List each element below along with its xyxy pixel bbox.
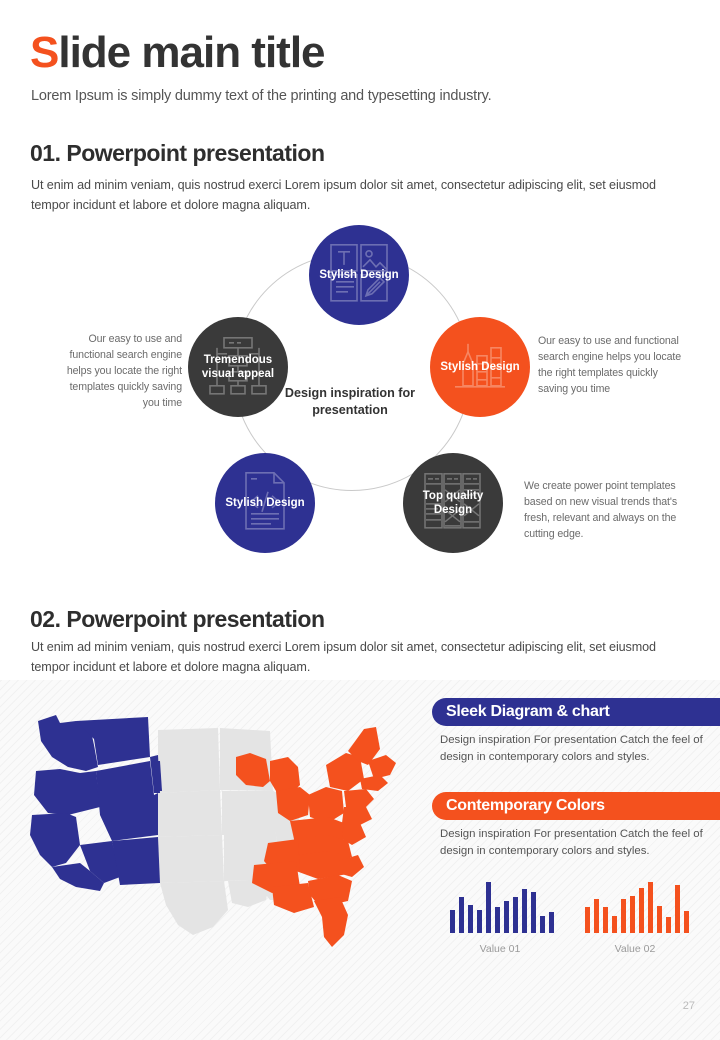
bar bbox=[621, 899, 626, 933]
united-states-map bbox=[8, 695, 418, 955]
section-2-heading: 02. Powerpoint presentation bbox=[30, 606, 325, 633]
bar bbox=[675, 885, 680, 933]
bar bbox=[450, 910, 455, 933]
diagram-node-stylish-design-bottom[interactable]: Stylish Design bbox=[215, 453, 315, 553]
card-1-title-ribbon[interactable]: Sleek Diagram & chart bbox=[432, 698, 720, 726]
diagram-node-top-quality-design[interactable]: Top quality Design bbox=[403, 453, 503, 553]
bar bbox=[522, 889, 527, 933]
diagram-node-label: Stylish Design bbox=[440, 360, 519, 374]
bar bbox=[666, 917, 671, 933]
card-1-title: Sleek Diagram & chart bbox=[446, 703, 610, 721]
page-number: 27 bbox=[683, 1000, 695, 1012]
section-2-body: Ut enim ad minim veniam, quis nostrud ex… bbox=[31, 638, 691, 677]
diagram-node-stylish-design-top[interactable]: Stylish Design bbox=[309, 225, 409, 325]
bar-chart-value-02 bbox=[585, 875, 689, 933]
bar-chart-value-01 bbox=[450, 875, 554, 933]
bar bbox=[684, 911, 689, 933]
bar-charts: Value 01 Value 02 bbox=[440, 875, 710, 955]
bar bbox=[495, 907, 500, 933]
bar bbox=[513, 897, 518, 933]
bar bbox=[486, 882, 491, 933]
diagram-note-right: Our easy to use and functional search en… bbox=[538, 333, 688, 397]
page-subtitle: Lorem Ipsum is simply dummy text of the … bbox=[31, 88, 491, 104]
bar bbox=[540, 916, 545, 933]
bar bbox=[612, 916, 617, 933]
bar bbox=[459, 897, 464, 933]
bar bbox=[531, 892, 536, 933]
bar bbox=[648, 882, 653, 933]
diagram-node-label: Top quality Design bbox=[403, 489, 503, 518]
card-2-body: Design inspiration For presentation Catc… bbox=[440, 826, 710, 859]
bar bbox=[639, 888, 644, 933]
us-map-svg bbox=[8, 695, 418, 955]
title-accent-letter: S bbox=[30, 28, 58, 77]
diagram-node-label: Stylish Design bbox=[319, 268, 398, 282]
bar bbox=[585, 907, 590, 933]
diagram-note-bottom-right: We create power point templates based on… bbox=[524, 478, 692, 542]
card-2-title: Contemporary Colors bbox=[446, 797, 605, 815]
diagram-node-label: Tremendous visual appeal bbox=[188, 353, 288, 382]
diagram-node-tremendous-visual-appeal[interactable]: Tremendous visual appeal bbox=[188, 317, 288, 417]
page-title: Slide main title bbox=[30, 30, 325, 76]
diagram-note-left: Our easy to use and functional search en… bbox=[60, 331, 182, 411]
diagram-center-text: Design inspiration for presentation bbox=[260, 385, 440, 419]
bar bbox=[504, 901, 509, 933]
bar bbox=[549, 912, 554, 933]
bar bbox=[630, 896, 635, 933]
section-1-body: Ut enim ad minim veniam, quis nostrud ex… bbox=[31, 176, 691, 215]
bar-chart-label-value-01: Value 01 bbox=[445, 943, 555, 955]
diagram-node-label: Stylish Design bbox=[225, 496, 304, 510]
card-1-body: Design inspiration For presentation Catc… bbox=[440, 732, 710, 765]
bar bbox=[594, 899, 599, 933]
map-region-navy bbox=[30, 715, 162, 891]
bar bbox=[477, 910, 482, 933]
slide-root: Slide main title Lorem Ipsum is simply d… bbox=[0, 0, 720, 1040]
bottom-panel: Sleek Diagram & chart Design inspiration… bbox=[0, 680, 720, 1040]
bar bbox=[657, 906, 662, 933]
bar bbox=[603, 907, 608, 933]
card-2-title-ribbon[interactable]: Contemporary Colors bbox=[432, 792, 720, 820]
circular-diagram: Stylish Design Stylish Design bbox=[150, 225, 570, 570]
bar-chart-label-value-02: Value 02 bbox=[580, 943, 690, 955]
section-1-heading: 01. Powerpoint presentation bbox=[30, 140, 325, 167]
diagram-node-stylish-design-right[interactable]: Stylish Design bbox=[430, 317, 530, 417]
title-rest: lide main title bbox=[58, 28, 324, 77]
bar bbox=[468, 905, 473, 933]
